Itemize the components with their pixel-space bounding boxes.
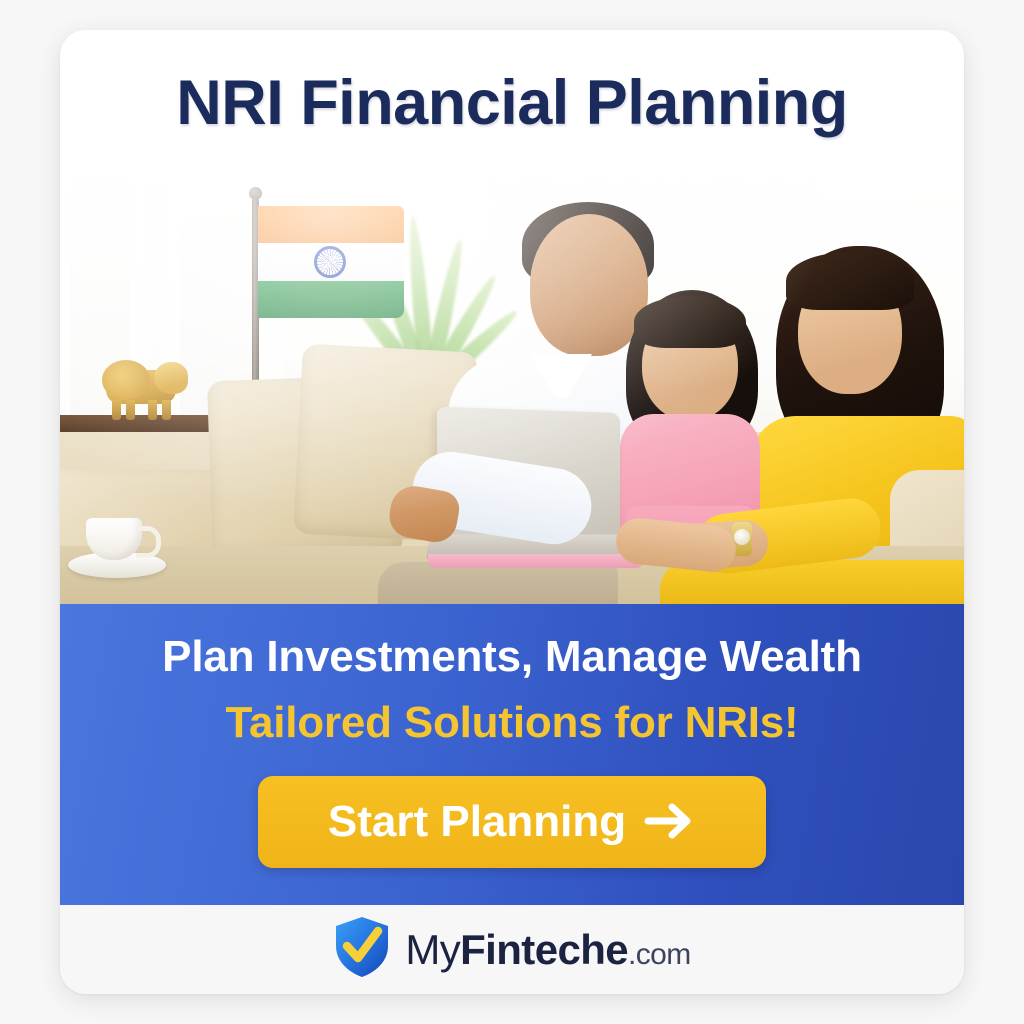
hero-photo-illustration	[60, 170, 964, 604]
brand-main: Finteche	[460, 926, 628, 973]
hero-photo	[60, 170, 964, 604]
page-title: NRI Financial Planning	[176, 67, 848, 139]
brand-tld: .com	[628, 938, 691, 971]
arrow-right-icon	[644, 801, 696, 844]
ashoka-chakra-icon	[314, 246, 346, 278]
ad-stage: NRI Financial Planning	[0, 0, 1024, 1024]
shield-check-icon	[333, 915, 391, 984]
promo-band: Plan Investments, Manage Wealth Tailored…	[60, 604, 964, 905]
brand-prefix: My	[405, 926, 460, 973]
brand-footer: MyFinteche.com	[60, 905, 964, 994]
lion-statue	[96, 358, 190, 420]
headline-zone: NRI Financial Planning	[60, 30, 964, 175]
father-leg	[378, 562, 618, 604]
start-planning-button[interactable]: Start Planning	[258, 776, 766, 868]
cta-label: Start Planning	[328, 797, 626, 847]
brand-wordmark: MyFinteche.com	[405, 929, 690, 971]
teacup-handle	[136, 526, 161, 558]
ad-card: NRI Financial Planning	[60, 30, 964, 994]
promo-headline: Plan Investments, Manage Wealth	[162, 632, 862, 682]
promo-subheadline: Tailored Solutions for NRIs!	[226, 698, 799, 748]
indian-flag-icon	[258, 206, 404, 318]
laptop-base-edge	[428, 554, 644, 568]
